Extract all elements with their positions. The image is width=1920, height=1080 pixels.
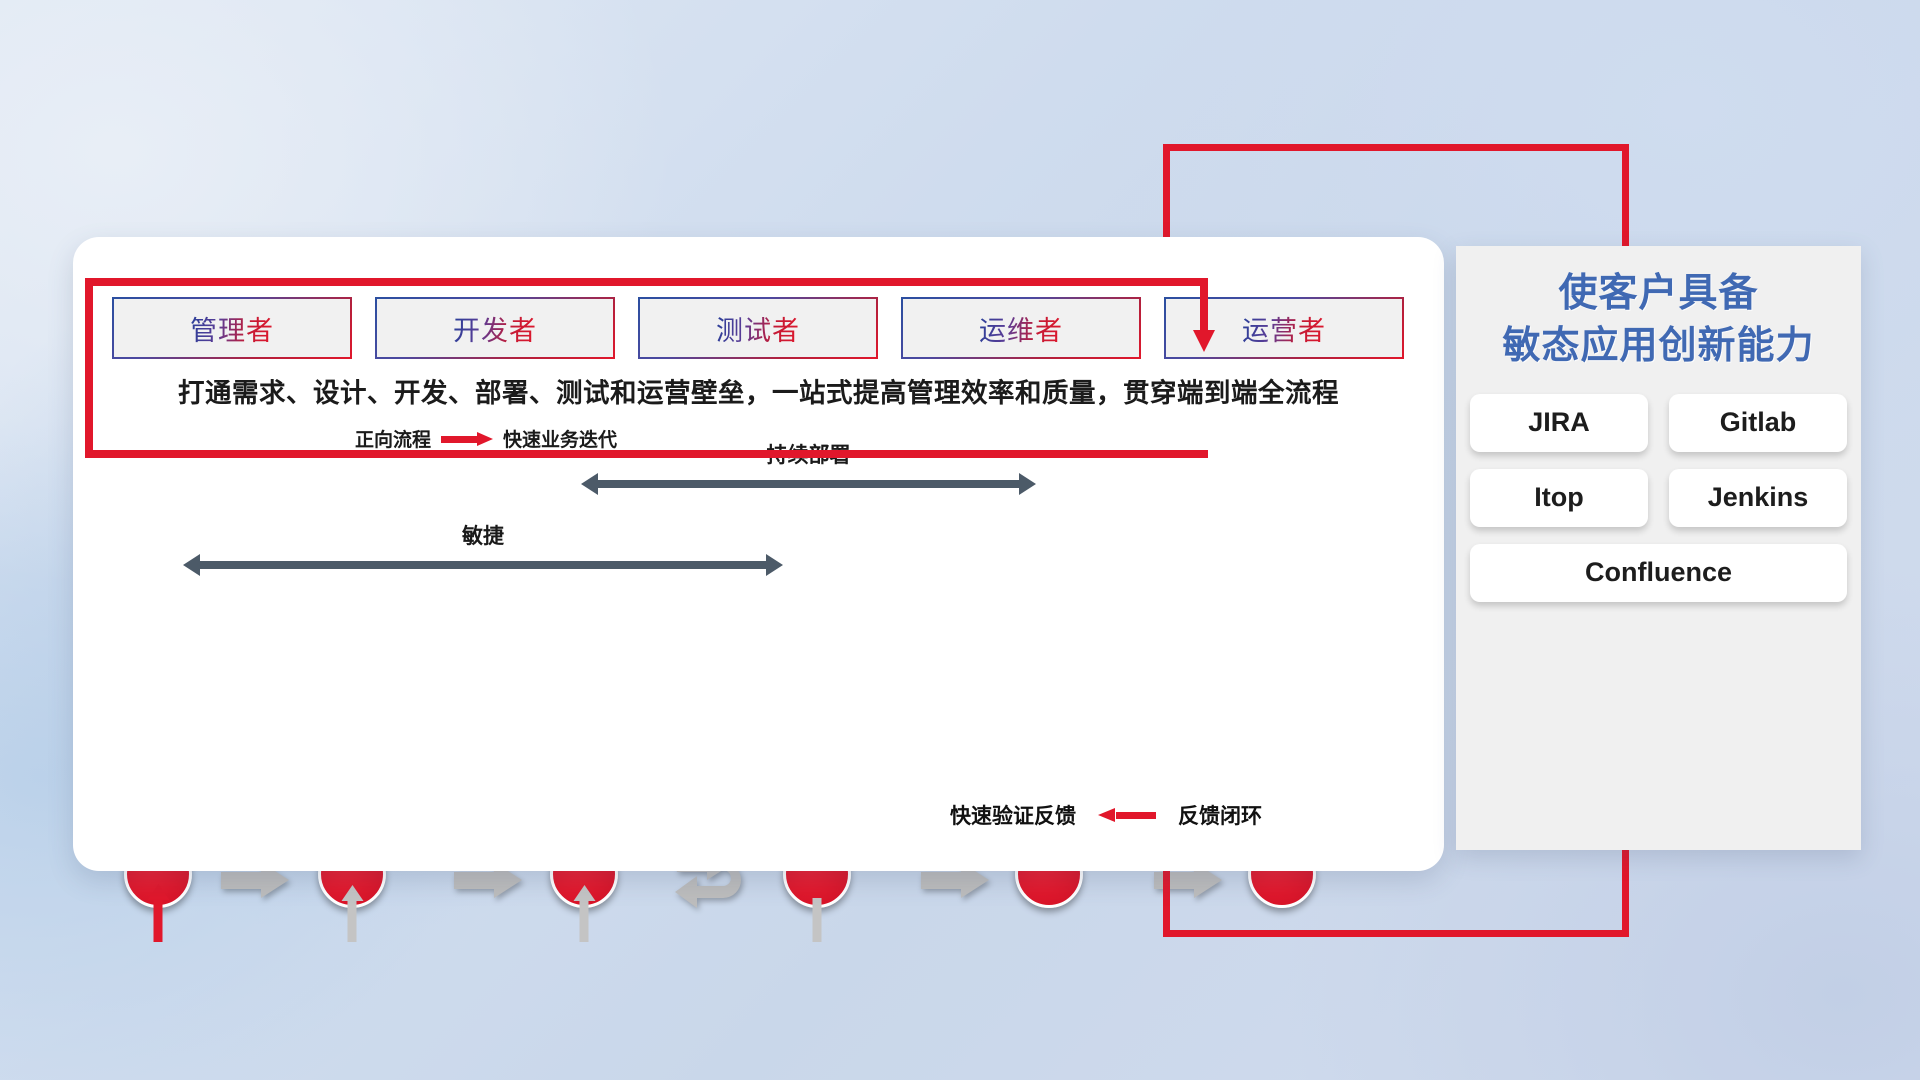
loop-top-edge bbox=[85, 278, 1208, 286]
tool-gitlab[interactable]: Gitlab bbox=[1669, 394, 1847, 452]
tool-confluence[interactable]: Confluence bbox=[1470, 544, 1847, 602]
arrow-shaft bbox=[199, 561, 767, 569]
arrow-head-left-icon bbox=[581, 473, 598, 495]
stage-feedback-stem bbox=[813, 898, 822, 942]
loop-left-edge bbox=[85, 278, 93, 458]
loop-right-edge bbox=[1200, 278, 1208, 334]
feedback-legend: 快速验证反馈 反馈闭环 bbox=[950, 800, 1262, 830]
arrow-shaft bbox=[454, 872, 496, 889]
panel-title: 使客户具备 敏态应用创新能力 bbox=[1456, 268, 1861, 372]
agile-span: 敏捷 bbox=[183, 554, 783, 576]
arrow-shaft bbox=[597, 480, 1020, 488]
panel-title-line1: 使客户具备 bbox=[1456, 268, 1861, 321]
fast-validation-label: 快速验证反馈 bbox=[950, 800, 1076, 830]
stage-feedback-stem bbox=[348, 898, 357, 942]
arrow-head-right-icon bbox=[1019, 473, 1036, 495]
arrow-shaft bbox=[921, 872, 963, 889]
tool-list: JIRA Gitlab Itop Jenkins Confluence bbox=[1470, 394, 1847, 602]
loop-bottom-edge bbox=[85, 450, 1208, 458]
stage-feedback-stem-up bbox=[154, 898, 163, 942]
outcome-panel: 使客户具备 敏态应用创新能力 JIRA Gitlab Itop Jenkins … bbox=[1456, 246, 1861, 850]
agile-label: 敏捷 bbox=[183, 520, 783, 550]
role-label: 运营者 bbox=[1242, 309, 1326, 348]
red-feedback-loop bbox=[85, 278, 1208, 458]
tool-jenkins[interactable]: Jenkins bbox=[1669, 469, 1847, 527]
arrow-head-right-icon bbox=[766, 554, 783, 576]
stage-feedback-stem bbox=[580, 898, 589, 942]
arrow-left-red-icon bbox=[1098, 808, 1156, 822]
feedback-loop-label: 反馈闭环 bbox=[1178, 800, 1262, 830]
arrow-shaft bbox=[221, 872, 263, 889]
loop-arrow-down-icon bbox=[1193, 330, 1215, 352]
panel-title-line2: 敏态应用创新能力 bbox=[1456, 321, 1861, 372]
tool-itop[interactable]: Itop bbox=[1470, 469, 1648, 527]
tool-jira[interactable]: JIRA bbox=[1470, 394, 1648, 452]
arrow-head-left-icon bbox=[183, 554, 200, 576]
continuous-deployment-span: 持续部署 bbox=[581, 473, 1036, 495]
